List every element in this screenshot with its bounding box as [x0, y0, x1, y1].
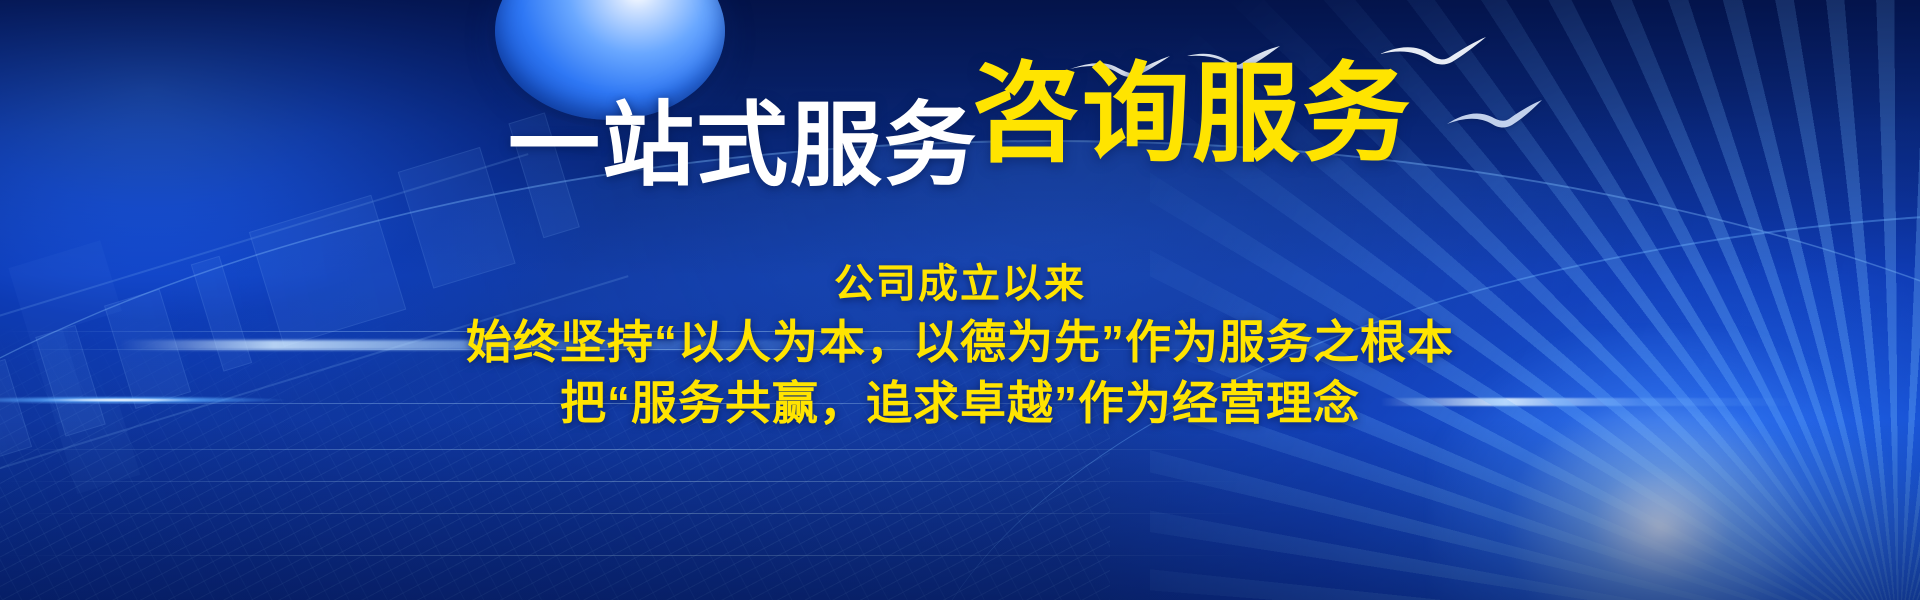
- subtitle-line-2: 始终坚持“以人为本，以德为先”作为服务之根本: [0, 312, 1920, 374]
- headline: 一站式服务咨询服务: [0, 86, 1920, 194]
- headline-accent-text: 咨询服务: [972, 53, 1412, 174]
- promo-banner: 一站式服务咨询服务 公司成立以来 始终坚持“以人为本，以德为先”作为服务之根本 …: [0, 0, 1920, 600]
- subtitle-block: 公司成立以来 始终坚持“以人为本，以德为先”作为服务之根本 把“服务共赢，追求卓…: [0, 258, 1920, 435]
- subtitle-line-1: 公司成立以来: [0, 258, 1920, 312]
- subtitle-line-3: 把“服务共赢，追求卓越”作为经营理念: [0, 373, 1920, 435]
- headline-primary-text: 一站式服务: [508, 95, 978, 197]
